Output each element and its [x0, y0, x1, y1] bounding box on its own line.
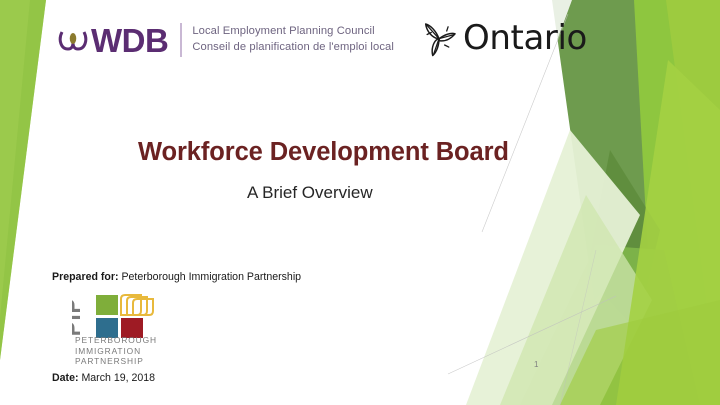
right-facet-lime-a [590, 0, 720, 405]
prepared-for-line: Prepared for: Peterborough Immigration P… [52, 271, 301, 283]
wdb-logo: WDB Local Employment Planning Council Co… [58, 16, 394, 64]
ontario-trillium-icon [418, 17, 460, 59]
wdb-owl-mark-icon [58, 25, 88, 55]
pip-square-green [96, 295, 118, 315]
pip-monogram: PIP [72, 298, 85, 336]
page-number: 1 [534, 360, 538, 369]
pip-pinwheel-icon: PIP [72, 291, 176, 341]
ontario-logo: Ontario [418, 14, 587, 62]
left-green-wedge-shade [0, 0, 46, 360]
ontario-wordmark: Ontario [463, 21, 587, 55]
wdb-wordmark: WDB [91, 24, 168, 57]
wdb-tagline-en: Local Employment Planning Council [192, 24, 394, 40]
left-green-wedge [0, 0, 46, 360]
right-facet-bottom-lime [560, 300, 720, 405]
hairline-diagonal-tail [560, 250, 596, 405]
prepared-for-value: Peterborough Immigration Partnership [119, 271, 302, 283]
pip-name-line3: PARTNERSHIP [75, 356, 157, 367]
hairline-diagonal-lower [448, 296, 616, 374]
wdb-mark-center [70, 33, 77, 44]
date-line: Date: March 19, 2018 [52, 372, 155, 384]
right-facet-lime-front [616, 60, 720, 405]
right-facet-green-mid [520, 245, 700, 405]
wdb-tagline: Local Employment Planning Council Consei… [192, 24, 394, 56]
right-facet-pale-soft [500, 195, 652, 405]
right-facet-olive-deep [586, 150, 660, 330]
wdb-tagline-fr: Conseil de planification de l'emploi loc… [192, 40, 394, 56]
pip-logo: PIP PETERBOROUGH IMMIGRATION PARTNERSHIP [72, 291, 176, 363]
presentation-slide: WDB Local Employment Planning Council Co… [0, 0, 720, 405]
slide-subtitle: A Brief Overview [247, 183, 373, 203]
wdb-divider [180, 23, 182, 57]
date-value: March 19, 2018 [79, 372, 156, 384]
slide-title: Workforce Development Board [138, 138, 509, 167]
pip-gold-leaves [121, 295, 153, 315]
date-label: Date: [52, 372, 79, 384]
pip-name: PETERBOROUGH IMMIGRATION PARTNERSHIP [75, 335, 157, 367]
pip-name-line1: PETERBOROUGH [75, 335, 157, 346]
right-facet-pale-large [466, 130, 640, 405]
pip-name-line2: IMMIGRATION [75, 346, 157, 357]
prepared-for-label: Prepared for: [52, 271, 119, 283]
